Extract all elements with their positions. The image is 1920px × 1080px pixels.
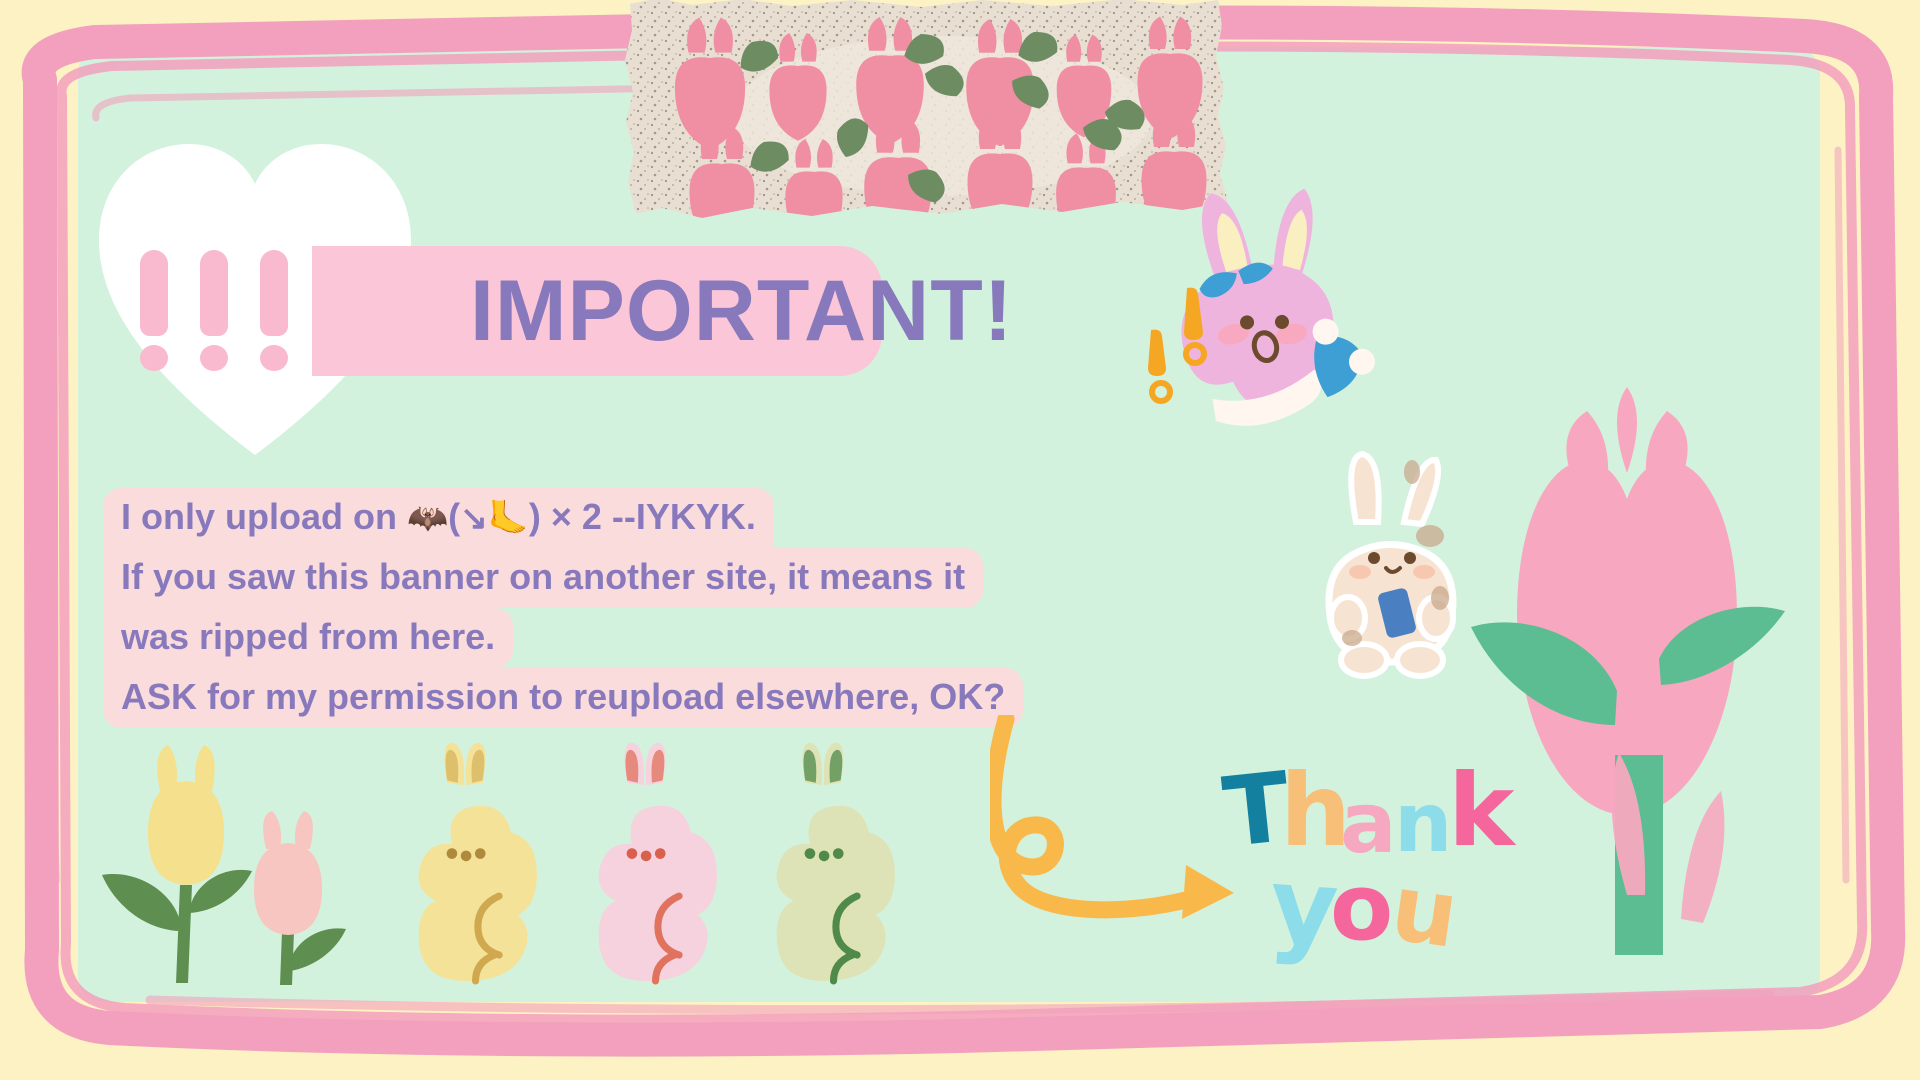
pink-gummy-bunny [599,743,717,981]
green-gummy-bunny [777,743,895,981]
pink-tulip [254,811,346,985]
purple-bunny-sticker [1135,170,1395,450]
yellow-gummy-bunny [419,743,537,981]
page-title: IMPORTANT! [470,268,1013,354]
thankyou-letter-o: o [1330,854,1393,961]
thank-you-lettering: T h a n k y o u [1222,758,1522,948]
bottom-decoration-row [90,735,990,985]
foot-icon: 🦶 [488,499,529,536]
message-row-3: was ripped from here. [103,608,1163,668]
exclamation-mark-2 [200,250,228,371]
thankyou-letter-k: k [1448,752,1515,869]
message-row-2: If you saw this banner on another site, … [103,548,1163,608]
arrow-down-right-icon: ↘ [460,499,488,536]
exclamation-mark-3 [260,250,288,371]
banner-canvas: IMPORTANT! I only upload on 🦇(↘🦶) × 2 --… [0,0,1920,1080]
exclamation-mark-1 [140,250,168,371]
message-line-4: ASK for my permission to reupload elsewh… [103,668,1023,728]
message-line-2: If you saw this banner on another site, … [103,548,983,608]
yellow-tulip [102,745,252,983]
message-line-3: was ripped from here. [103,608,513,668]
heart-exclamation-marks [140,250,288,371]
message-line-1: I only upload on 🦇(↘🦶) × 2 --IYKYK. [103,488,774,548]
cream-bunny-with-phone-sticker [1290,450,1490,710]
bat-icon: 🦇 [407,499,448,536]
message-row-1: I only upload on 🦇(↘🦶) × 2 --IYKYK. [103,488,1163,548]
notice-message: I only upload on 🦇(↘🦶) × 2 --IYKYK. If y… [103,488,1163,728]
